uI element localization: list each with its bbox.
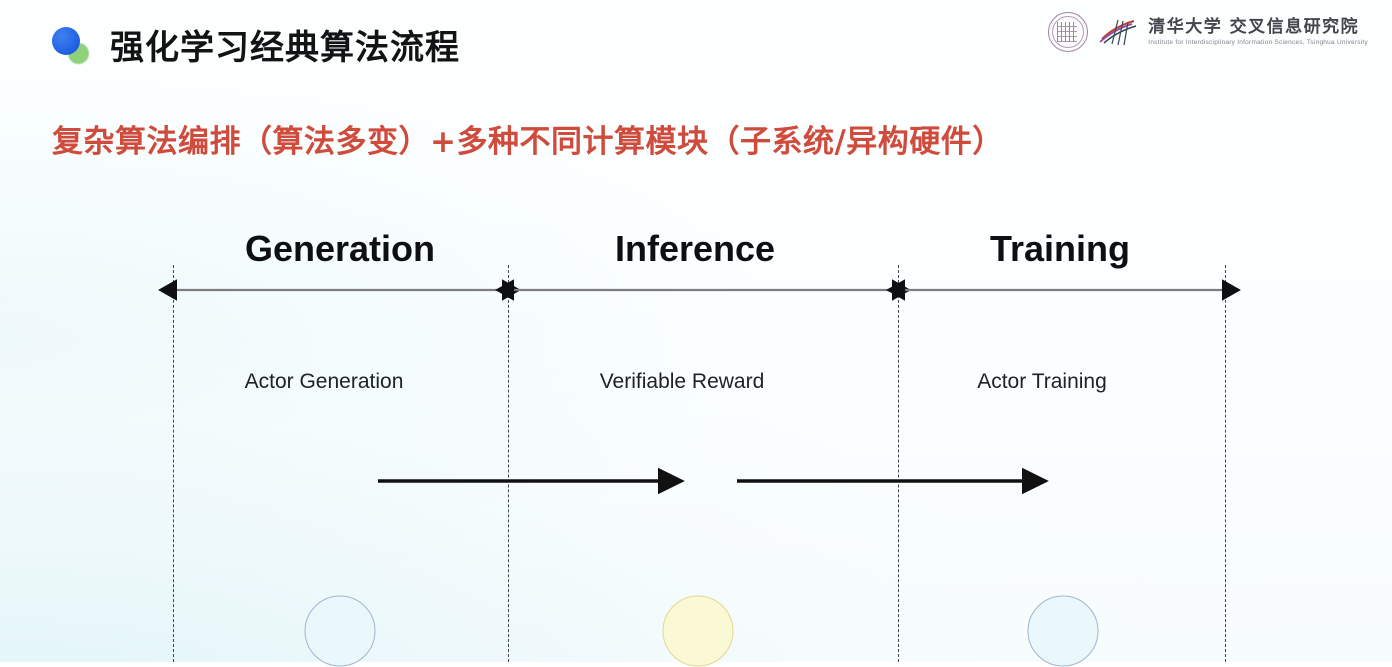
logo-name-en: Institute for Interdisciplinary Informat…	[1148, 39, 1368, 46]
page-title: 强化学习经典算法流程	[110, 20, 460, 69]
slide-header: 强化学习经典算法流程	[48, 20, 460, 69]
logo-name-cn: 清华大学 交叉信息研究院	[1148, 18, 1368, 37]
slide-canvas: 强化学习经典算法流程 清华大学 交叉信息研究院 Institute for In…	[0, 0, 1392, 662]
pipeline-node-generation	[305, 596, 376, 667]
pipeline-diagram: Generation Inference Training Actor Gene…	[0, 185, 1392, 662]
pipeline-flow-arrows	[0, 185, 1392, 662]
logo-text-block: 清华大学 交叉信息研究院 Institute for Interdiscipli…	[1148, 18, 1368, 47]
blue-dot-shape	[52, 27, 80, 55]
subtitle-text: 复杂算法编排（算法多变）+多种不同计算模块（子系统/异构硬件）	[52, 116, 1004, 161]
pipeline-node-training	[1028, 596, 1099, 667]
institution-logo: 清华大学 交叉信息研究院 Institute for Interdiscipli…	[1048, 12, 1368, 52]
pipeline-node-inference	[663, 596, 734, 667]
tsinghua-brush-mark-icon	[1096, 17, 1140, 47]
tsinghua-seal-icon	[1048, 12, 1088, 52]
blue-green-dot-icon	[48, 23, 92, 67]
